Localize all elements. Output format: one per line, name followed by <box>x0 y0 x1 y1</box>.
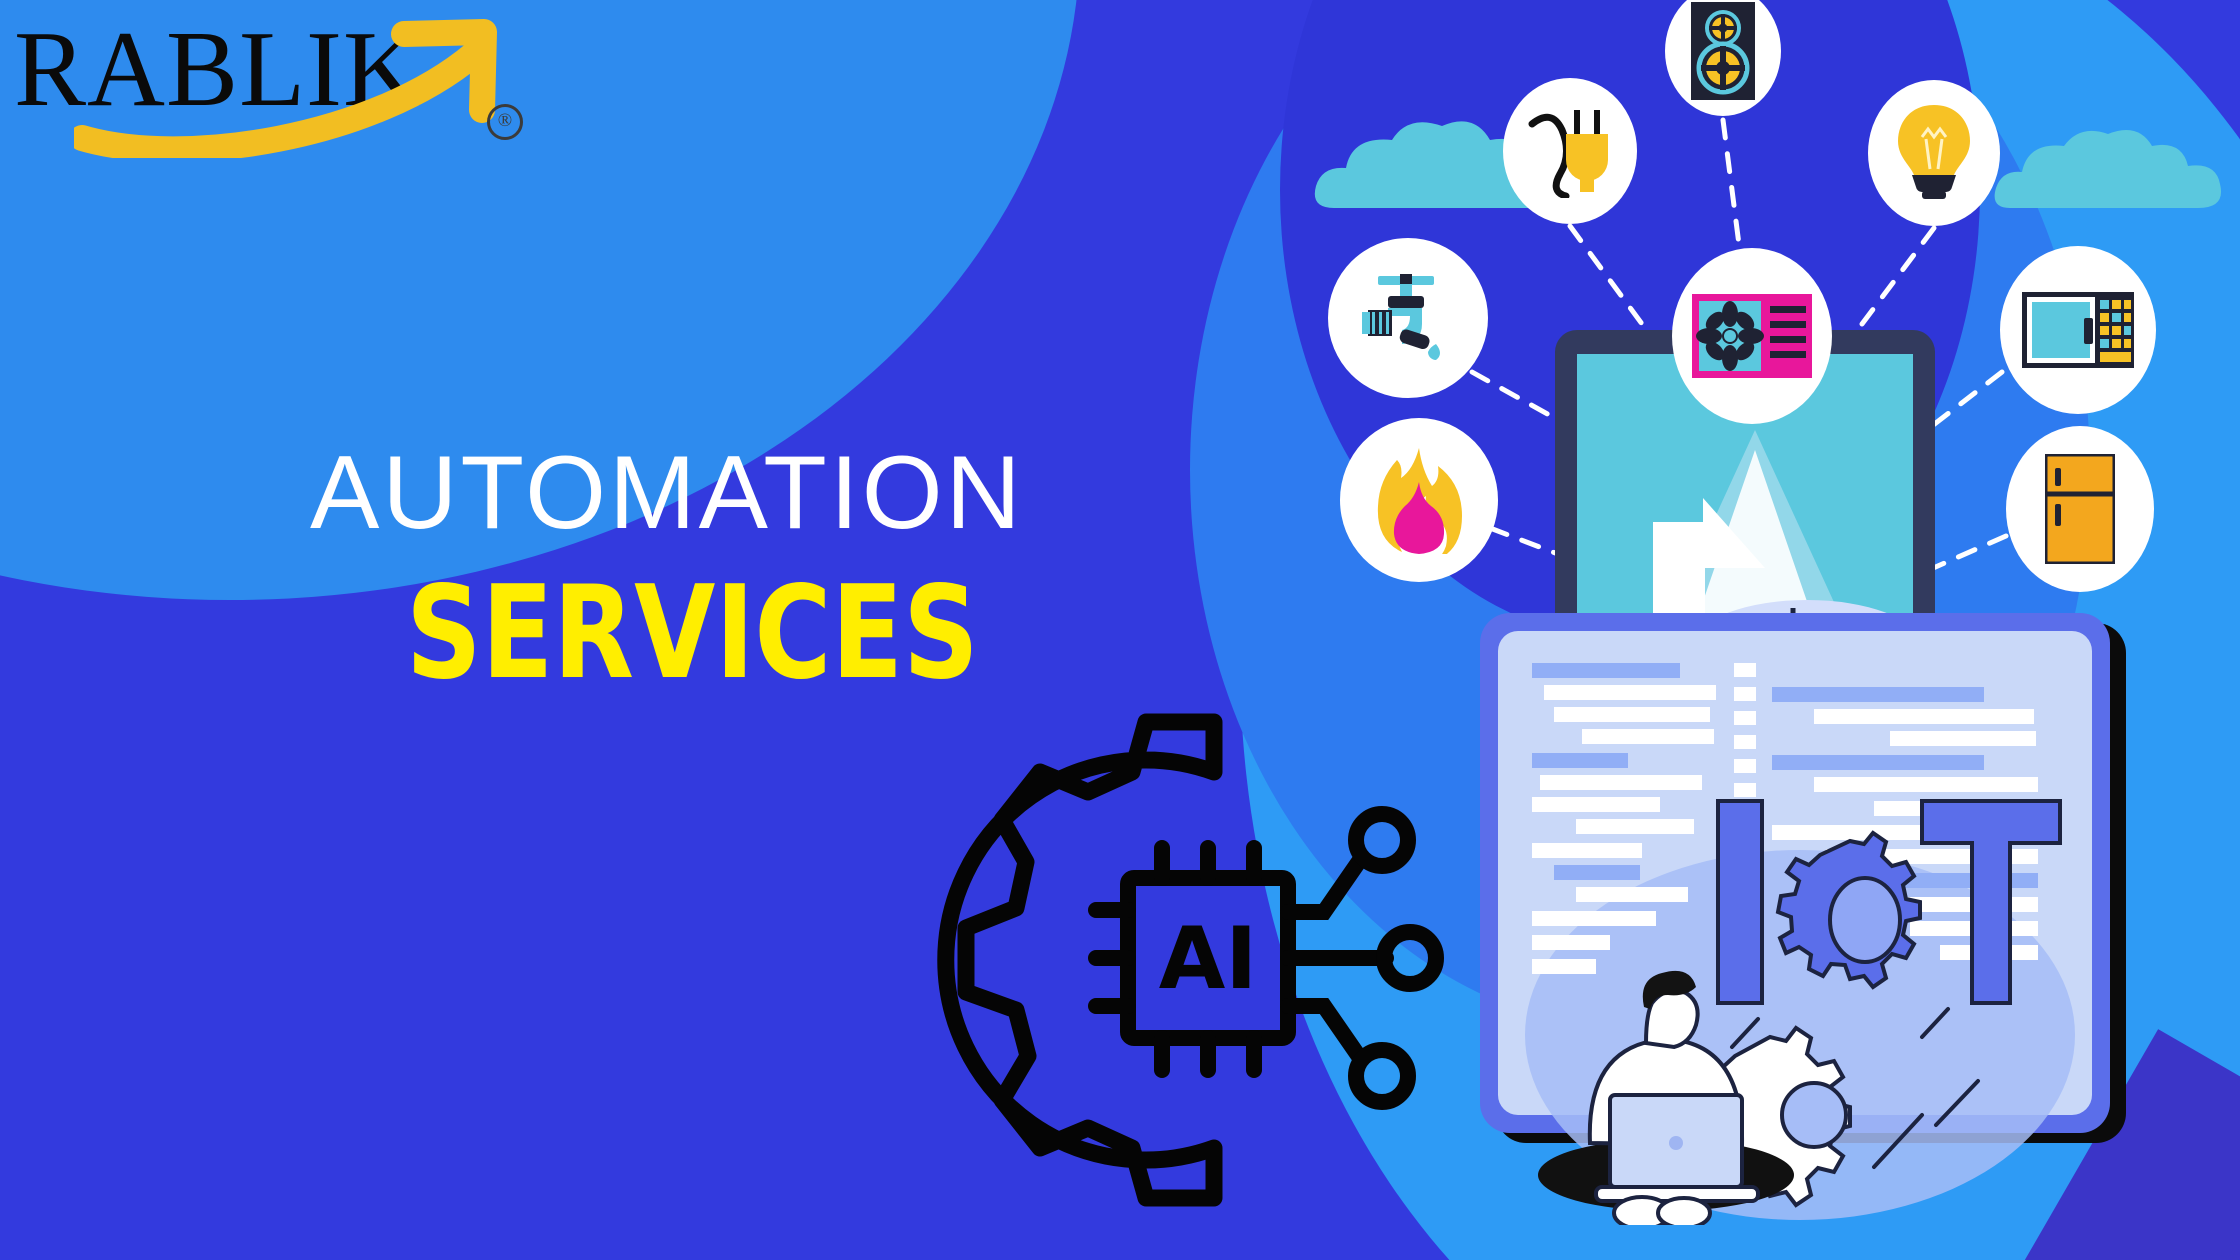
air-conditioner-icon <box>1692 294 1812 378</box>
bubble-flame[interactable] <box>1340 418 1498 582</box>
bubble-water-faucet[interactable] <box>1328 238 1488 398</box>
smart-speaker-icon <box>1691 2 1755 100</box>
bubble-air-conditioner[interactable] <box>1672 248 1832 424</box>
flame-icon <box>1372 446 1466 554</box>
power-plug-icon <box>1522 104 1618 198</box>
water-faucet-icon <box>1354 270 1462 366</box>
bubble-light-bulb[interactable] <box>1868 80 2000 226</box>
iot-document-tablet <box>1470 605 2150 1225</box>
person-foot-right <box>1658 1198 1710 1225</box>
bubble-power-plug[interactable] <box>1503 78 1637 224</box>
bubble-refrigerator[interactable] <box>2006 426 2154 592</box>
automation-services-banner: RABLIK ® AUTOMATION SERVICES <box>0 0 2240 1260</box>
bubble-microwave-oven[interactable] <box>2000 246 2156 414</box>
microwave-oven-icon <box>2022 292 2134 368</box>
refrigerator-icon <box>2045 454 2115 564</box>
light-bulb-icon <box>1896 103 1972 203</box>
